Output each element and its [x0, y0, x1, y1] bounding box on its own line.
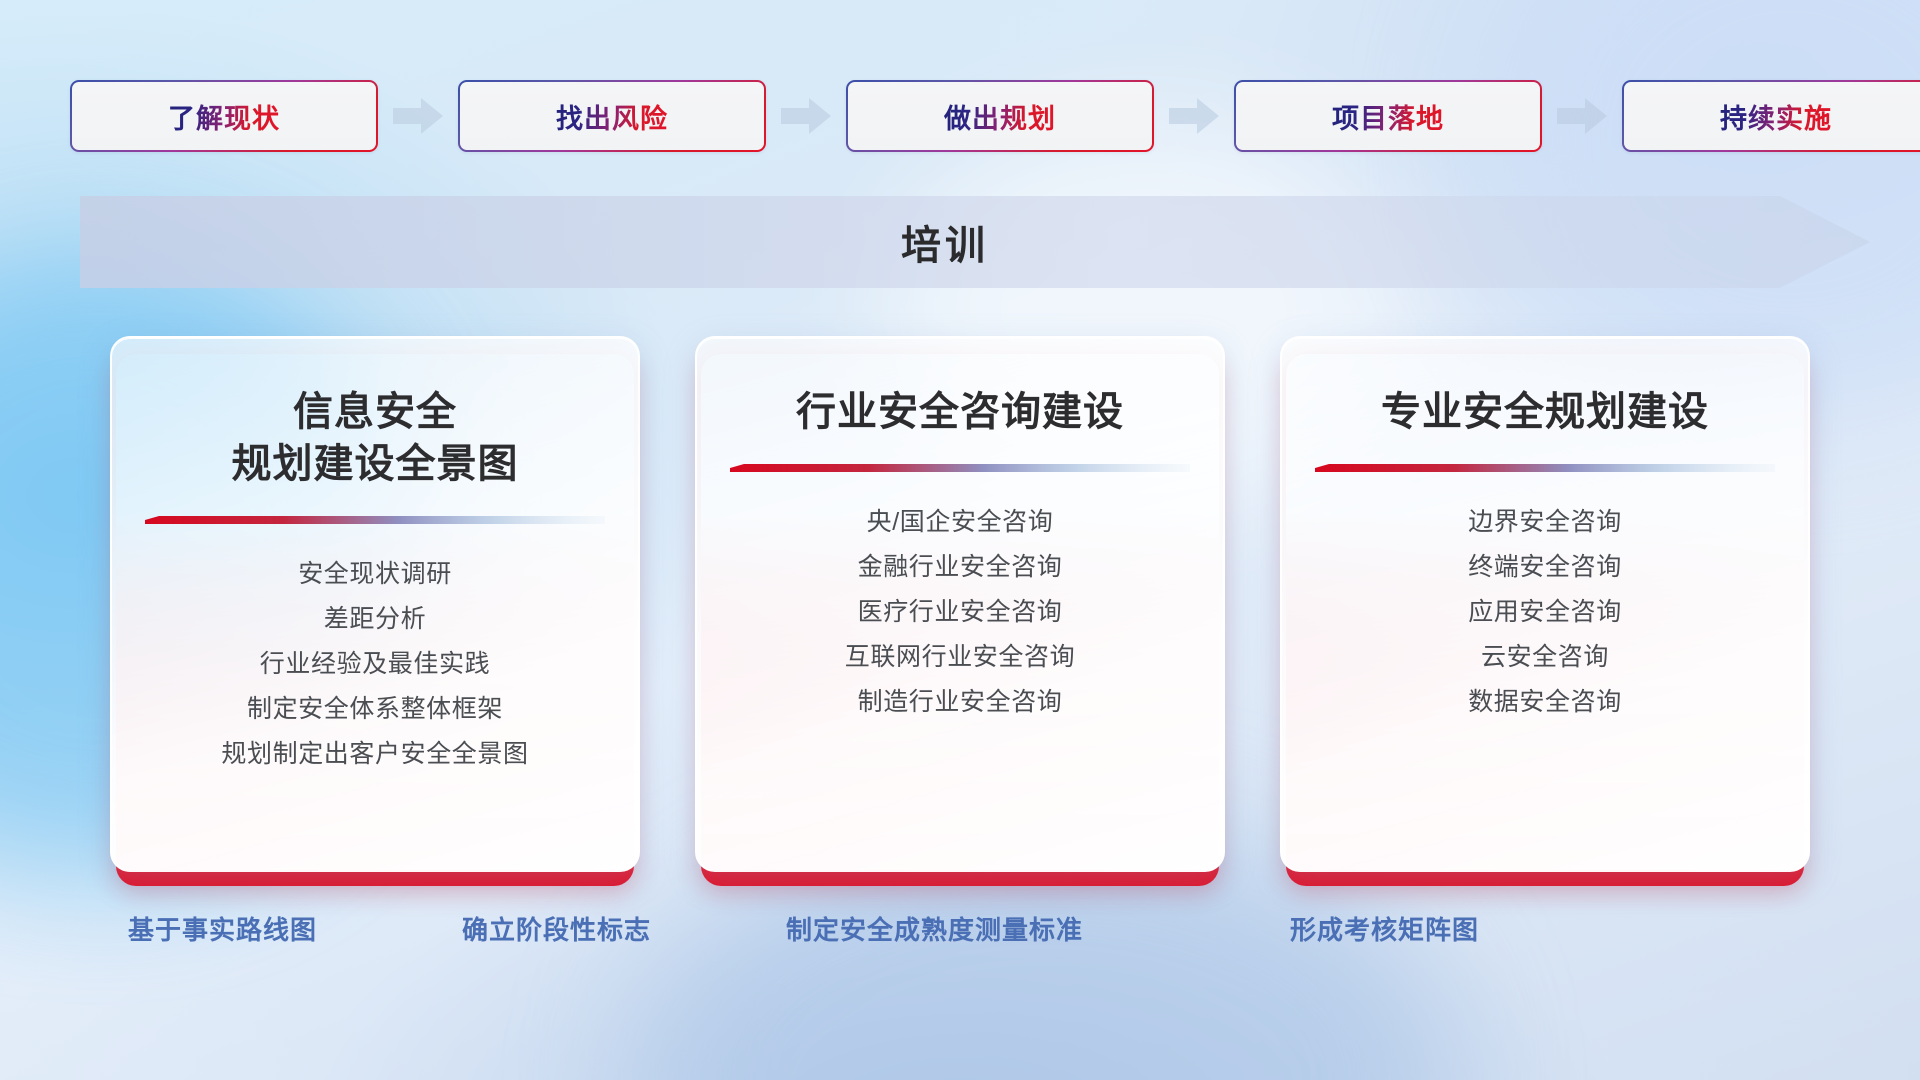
list-item: 央/国企安全咨询 [723, 500, 1197, 545]
card-surface: 信息安全 规划建设全景图 安全现状调研 [110, 336, 640, 872]
card-title: 专业安全规划建设 [1381, 386, 1709, 438]
card-row: 信息安全 规划建设全景图 安全现状调研 [110, 336, 1810, 886]
list-item: 医疗行业安全咨询 [723, 590, 1197, 635]
caption-row: 基于事实路线图 确立阶段性标志 制定安全成熟度测量标准 形成考核矩阵图 [0, 910, 1920, 966]
training-banner: 培训 [80, 196, 1870, 288]
process-step-4[interactable]: 持续实施 [1622, 80, 1920, 152]
right-arrow-icon [779, 96, 833, 136]
process-step-label: 项目落地 [1332, 97, 1444, 136]
list-item: 应用安全咨询 [1308, 590, 1782, 635]
card-2[interactable]: 专业安全规划建设 边界安全咨询 终端安 [1280, 336, 1810, 886]
card-divider [730, 464, 1190, 478]
process-step-2[interactable]: 做出规划 [846, 80, 1154, 152]
caption-0: 基于事实路线图 [128, 910, 317, 947]
slide-canvas: 了解现状 找出风险 做出规划 项目落地 [0, 0, 1920, 1080]
list-item: 制造行业安全咨询 [723, 680, 1197, 725]
card-list: 安全现状调研 差距分析 行业经验及最佳实践 制定安全体系整体框架 规划制定出客户… [138, 552, 612, 777]
list-item: 规划制定出客户安全全景图 [138, 732, 612, 777]
list-item: 安全现状调研 [138, 552, 612, 597]
card-title: 行业安全咨询建设 [796, 386, 1124, 438]
list-item: 互联网行业安全咨询 [723, 635, 1197, 680]
process-step-label: 找出风险 [556, 97, 668, 136]
right-arrow-icon [1555, 96, 1609, 136]
process-step-row: 了解现状 找出风险 做出规划 项目落地 [70, 80, 1850, 152]
list-item: 金融行业安全咨询 [723, 545, 1197, 590]
caption-2: 制定安全成熟度测量标准 [786, 910, 1083, 947]
caption-3: 形成考核矩阵图 [1290, 910, 1479, 947]
list-item: 云安全咨询 [1308, 635, 1782, 680]
card-0[interactable]: 信息安全 规划建设全景图 安全现状调研 [110, 336, 640, 886]
right-arrow-icon [1167, 96, 1221, 136]
card-divider [145, 516, 605, 530]
card-surface: 专业安全规划建设 边界安全咨询 终端安 [1280, 336, 1810, 872]
process-step-label: 做出规划 [944, 97, 1056, 136]
banner-title: 培训 [80, 196, 1810, 288]
card-title: 信息安全 规划建设全景图 [232, 386, 519, 490]
process-step-label: 持续实施 [1720, 97, 1832, 136]
right-arrow-icon [391, 96, 445, 136]
card-list: 边界安全咨询 终端安全咨询 应用安全咨询 云安全咨询 数据安全咨询 [1308, 500, 1782, 725]
list-item: 行业经验及最佳实践 [138, 642, 612, 687]
card-divider [1315, 464, 1775, 478]
process-step-0[interactable]: 了解现状 [70, 80, 378, 152]
card-surface: 行业安全咨询建设 央/国企安全咨询 金 [695, 336, 1225, 872]
card-list: 央/国企安全咨询 金融行业安全咨询 医疗行业安全咨询 互联网行业安全咨询 制造行… [723, 500, 1197, 725]
process-step-label: 了解现状 [168, 97, 280, 136]
list-item: 制定安全体系整体框架 [138, 687, 612, 732]
list-item: 差距分析 [138, 597, 612, 642]
list-item: 数据安全咨询 [1308, 680, 1782, 725]
process-step-1[interactable]: 找出风险 [458, 80, 766, 152]
card-1[interactable]: 行业安全咨询建设 央/国企安全咨询 金 [695, 336, 1225, 886]
caption-1: 确立阶段性标志 [462, 910, 651, 947]
process-step-3[interactable]: 项目落地 [1234, 80, 1542, 152]
list-item: 终端安全咨询 [1308, 545, 1782, 590]
list-item: 边界安全咨询 [1308, 500, 1782, 545]
